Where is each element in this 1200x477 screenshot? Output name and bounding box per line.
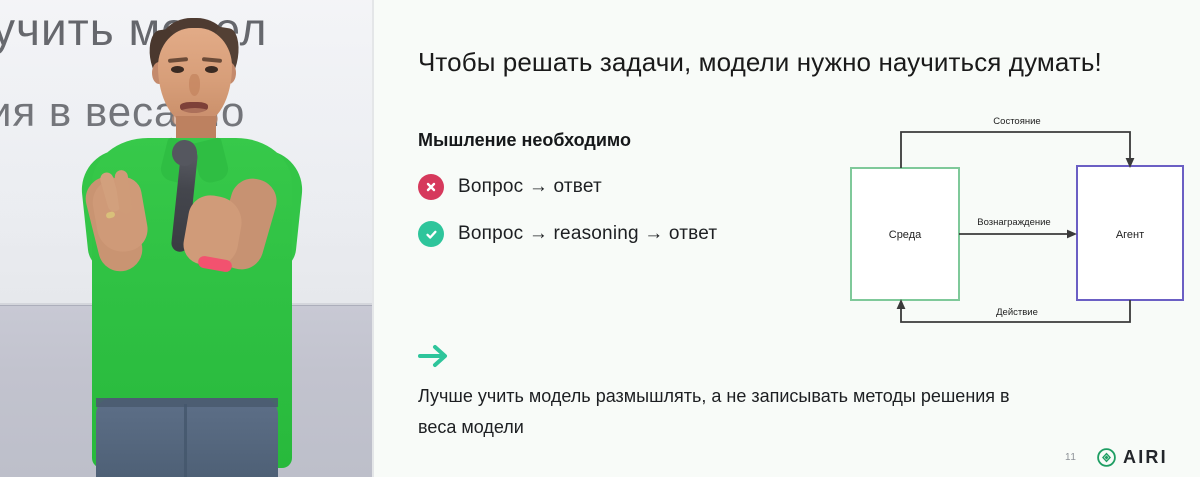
cross-icon <box>418 174 444 200</box>
presentation-screenshot: учить модел ия в веса мо <box>0 0 1200 477</box>
arrow-right-icon <box>418 341 452 371</box>
slide-title: Чтобы решать задачи, модели нужно научит… <box>418 47 1102 78</box>
check-icon <box>418 221 444 247</box>
bullet-item-positive: Вопрос → reasoning → ответ <box>418 221 717 247</box>
page-number: 11 <box>1065 452 1076 463</box>
reinforcement-learning-diagram: Среда Агент Состояние Вознаграждение Дей… <box>827 108 1187 338</box>
conclusion-text: Лучше учить модель размышлять, а не запи… <box>418 381 1038 443</box>
speaker-jeans <box>96 398 278 477</box>
brand-name: AIRI <box>1123 447 1168 468</box>
pane-divider <box>372 0 374 477</box>
bullet-item-negative: Вопрос → ответ <box>418 174 602 200</box>
bullet-label-positive: Вопрос → reasoning → ответ <box>458 223 717 245</box>
diagram-node-label-agent: Агент <box>1116 229 1144 241</box>
airi-mark-icon <box>1097 448 1116 467</box>
brand-logo: AIRI <box>1097 447 1168 468</box>
diagram-edge-state <box>901 132 1130 168</box>
speaker-jeans-seam <box>184 404 187 477</box>
slide-subheading: Мышление необходимо <box>418 130 631 151</box>
speaker-video-pane[interactable]: учить модел ия в веса мо <box>0 0 372 477</box>
diagram-edge-label-state: Состояние <box>993 116 1040 127</box>
speaker-nose <box>189 74 200 96</box>
speaker-eye-right <box>205 66 218 73</box>
slide-pane: Чтобы решать задачи, модели нужно научит… <box>372 0 1200 477</box>
speaker-eye-left <box>171 66 184 73</box>
bullet-label-negative: Вопрос → ответ <box>458 176 602 198</box>
diagram-edge-label-reward: Вознаграждение <box>977 217 1050 228</box>
diagram-arrowhead-reward <box>1067 230 1077 239</box>
diagram-node-label-environment: Среда <box>889 229 922 241</box>
speaker-figure <box>0 0 372 477</box>
diagram-edge-label-action: Действие <box>996 307 1038 318</box>
speaker-waistband <box>96 398 278 407</box>
